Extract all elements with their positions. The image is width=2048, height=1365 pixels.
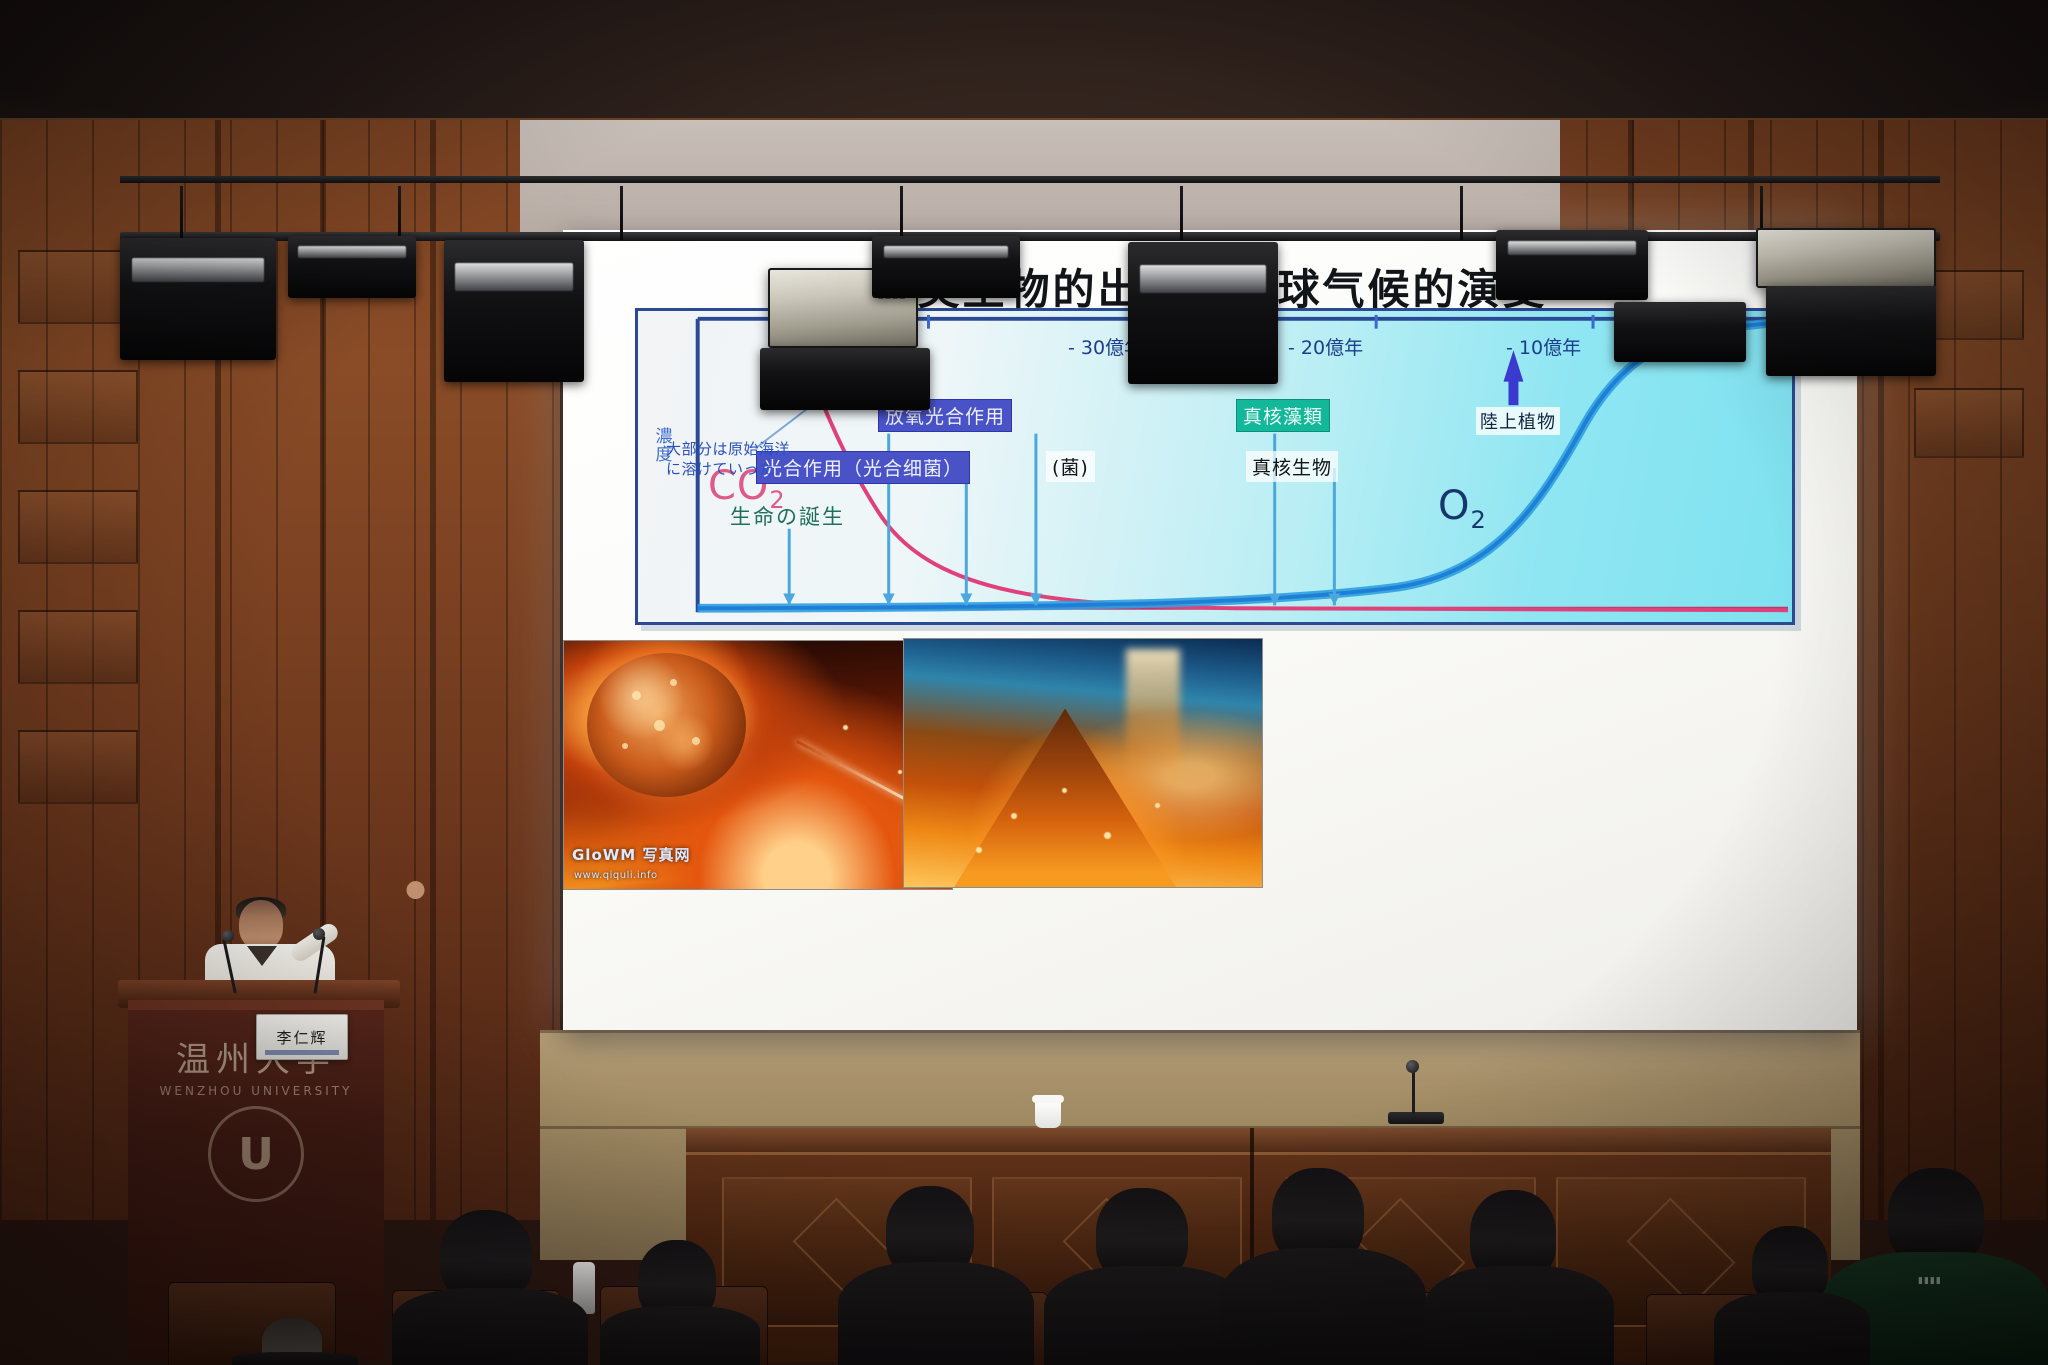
lamp-lens-8 [1508, 241, 1636, 255]
ember-b2 [1062, 788, 1067, 793]
wall-panel-l5 [18, 730, 138, 804]
stage-lamp-7 [1128, 242, 1278, 384]
stage-lamp-11 [1766, 286, 1936, 376]
audience-shoulders-1 [232, 1352, 358, 1365]
podium-mic-head [222, 930, 234, 942]
ember-b4 [1155, 803, 1160, 808]
wall-panel-l4 [18, 610, 138, 684]
annotation-land-plants: 陸上植物 [1476, 407, 1560, 435]
planet-spot-1 [632, 691, 641, 700]
planet-spot-2 [670, 679, 677, 686]
stage-lamp-10-silver [1756, 228, 1936, 288]
lighting-truss-upper [120, 176, 1940, 183]
desk-microphone-base [1388, 1112, 1444, 1124]
tshirt-print: ▮▮▮▮ [1918, 1276, 1942, 1286]
x-tick-2: - 20億年 [1288, 333, 1363, 360]
stage-lamp-3 [444, 240, 584, 382]
lamp-cable-1 [180, 186, 183, 240]
photo-watermark-url: www.qiquli.info [574, 870, 658, 881]
ember-a1 [843, 725, 848, 730]
lamp-lens-1 [132, 258, 263, 282]
wall-slat-l3 [430, 120, 436, 1220]
speaker-head [239, 900, 283, 950]
lamp-cable-2 [398, 186, 401, 240]
table-diamond-4 [1627, 1198, 1736, 1307]
ember-a2 [898, 770, 902, 774]
lamp-lens-2 [298, 246, 406, 258]
stage-lamp-6 [872, 236, 1020, 298]
audience-shoulders-5 [1220, 1248, 1426, 1365]
stage-lamp-5 [760, 348, 930, 410]
annotation-dissolved-note: 大部分は原始海洋 に溶けていった [666, 439, 790, 480]
desk-microphone-stem [1412, 1068, 1415, 1114]
early-earth-planet [587, 653, 746, 797]
annotation-birth-of-life: 生命の誕生 [730, 501, 845, 531]
lamp-cable-3 [620, 186, 623, 240]
audience-shoulders-3 [838, 1262, 1034, 1365]
tea-cup [1035, 1100, 1061, 1128]
conference-table-top [686, 1128, 1831, 1154]
ember-b5 [976, 847, 982, 853]
speaker-name: 李仁辉 [276, 1027, 327, 1048]
lava-plume [1126, 649, 1180, 788]
audience-shoulders-6 [1424, 1266, 1614, 1365]
wall-panel-l3 [18, 490, 138, 564]
stage-lamp-9 [1614, 302, 1746, 362]
photo-volcano [903, 638, 1263, 888]
audience-shoulders-8 [1714, 1292, 1870, 1365]
podium-crest: U [208, 1106, 304, 1202]
x-tick-3: - 10億年 [1506, 333, 1581, 360]
o2-series-label: O2 [1438, 483, 1487, 534]
stage-lamp-8 [1496, 230, 1648, 300]
wall-panel-l2 [18, 370, 138, 444]
lamp-cable-5 [1180, 186, 1183, 240]
planet-spot-5 [622, 743, 628, 749]
speaker-nameplate: 李仁辉 [256, 1014, 348, 1060]
nameplate-base [265, 1050, 339, 1055]
lamp-lens-6 [884, 246, 1008, 258]
back-wall-seam-1 [540, 1030, 1860, 1033]
annotation-bacteria-paren: (菌) [1046, 451, 1095, 482]
audience-shoulders-2 [392, 1288, 588, 1365]
lamp-cable-4 [900, 186, 903, 240]
lamp-cable-6 [1460, 186, 1463, 240]
wall-panel-r2 [1914, 388, 2024, 458]
photo-early-earth: GloWM 写真网 www.qiquli.info [563, 640, 953, 890]
annotation-eukaryotes: 真核生物 [1246, 451, 1338, 482]
podium-mic-head-2 [313, 928, 325, 940]
planet-spot-3 [654, 720, 665, 731]
stage-lamp-2 [288, 236, 416, 298]
audience-shoulders-4 [1044, 1266, 1248, 1365]
tea-cup-lid [1032, 1095, 1064, 1103]
planet-spot-4 [692, 737, 700, 745]
podium-crest-glyph: U [238, 1129, 274, 1180]
photo-watermark: GloWM 写真网 [572, 844, 690, 865]
audience-shoulders-9 [600, 1306, 760, 1365]
lamp-lens-7 [1140, 265, 1266, 293]
desk-microphone-head [1406, 1060, 1419, 1073]
podium-university-en: WENZHOU UNIVERSITY [160, 1084, 353, 1098]
lamp-lens-3 [455, 263, 573, 291]
stage-lamp-1 [120, 238, 276, 360]
lecture-hall-scene: 藻类生物的出现与地球气候的演变 [0, 0, 2048, 1365]
annotation-eukaryotic-algae: 真核藻類 [1236, 399, 1330, 432]
